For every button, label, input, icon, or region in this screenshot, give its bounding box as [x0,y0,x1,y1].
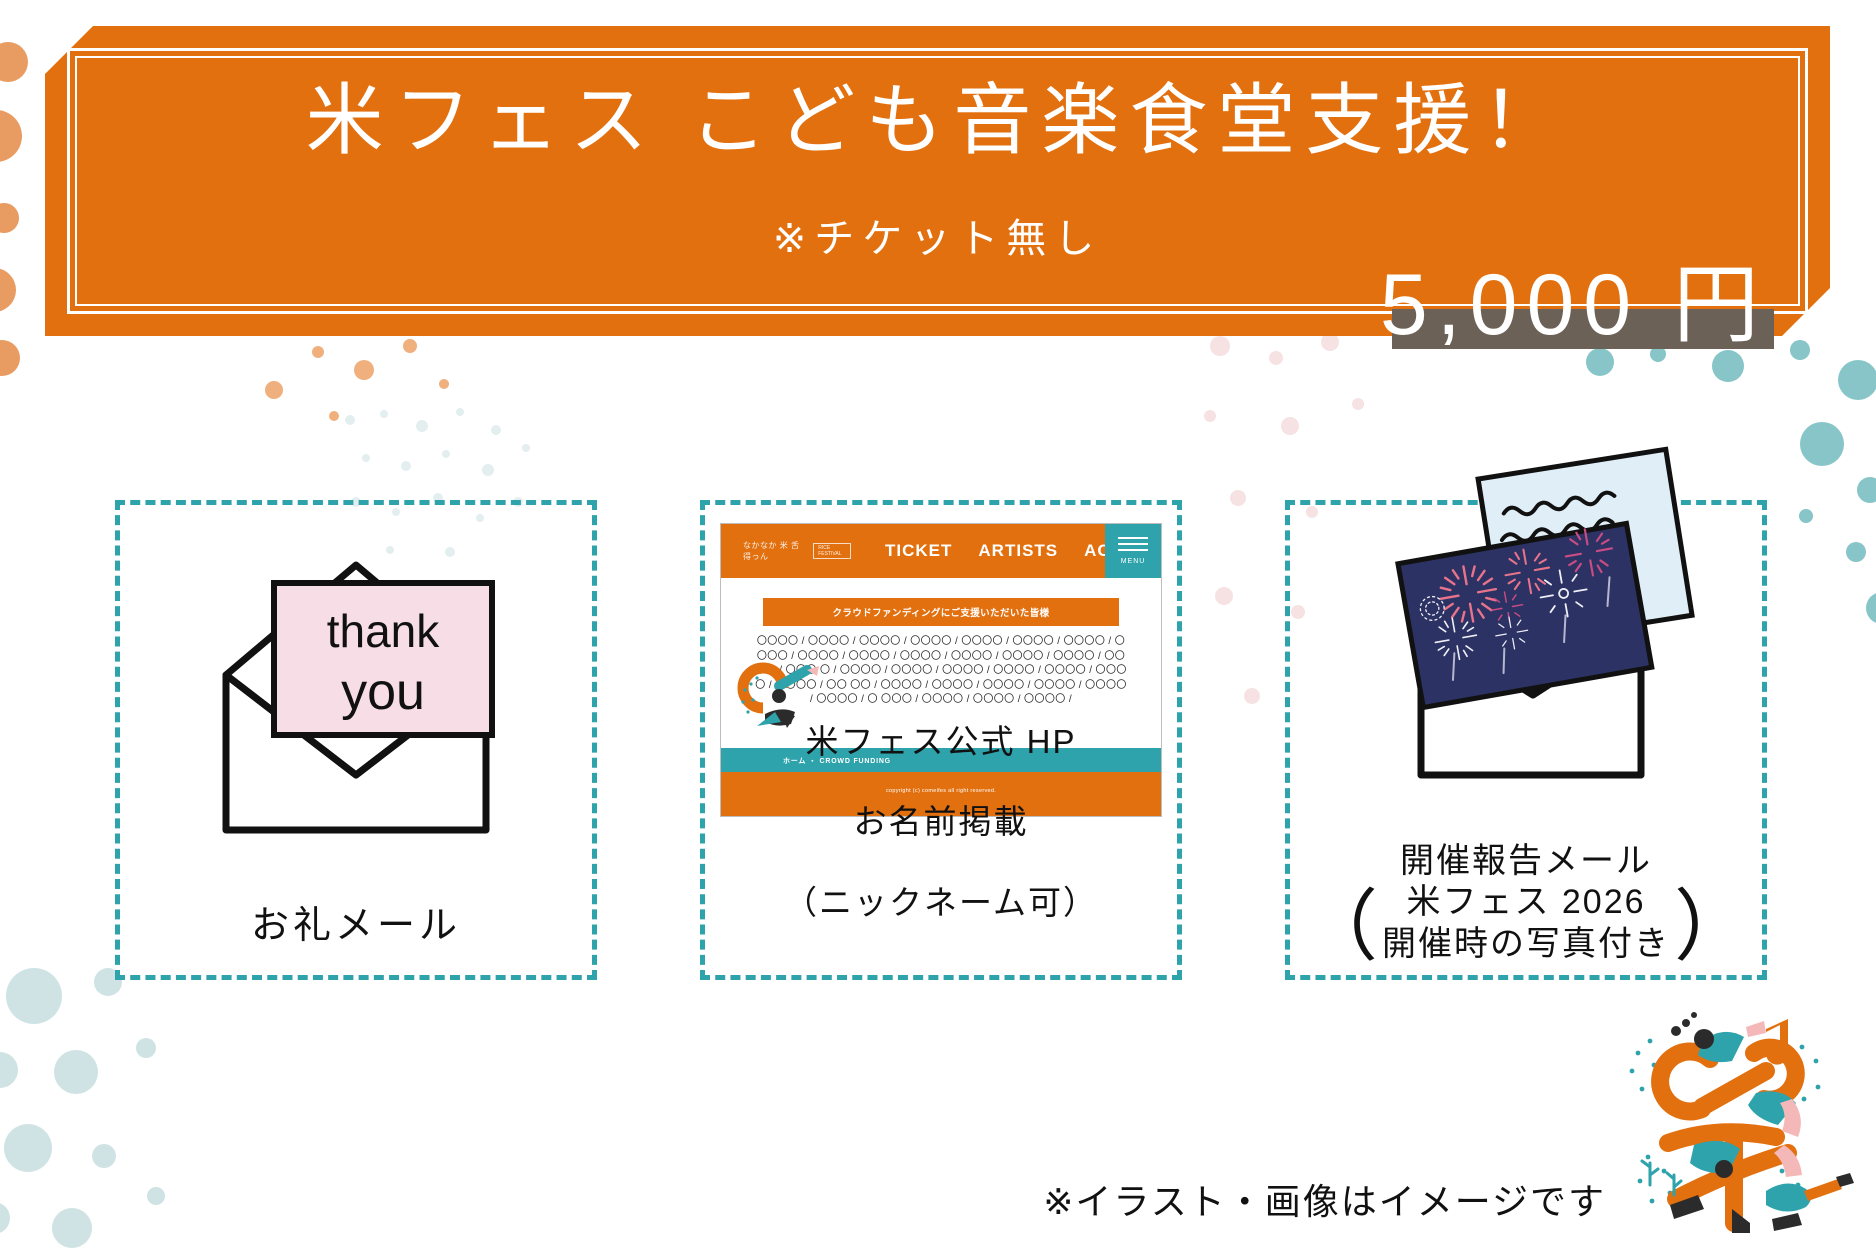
caption-line-1: 米フェス公式 HP [705,722,1177,762]
reward-caption-official-hp: 米フェス公式 HP お名前掲載 （ニックネーム可） [705,681,1177,963]
price-block: 5,000 円 [1380,251,1768,359]
banner-title: 米フェス こども音楽食堂支援！ [45,78,1830,164]
reward-caption-report-mail: （ 開催報告メール 米フェス 2026 開催時の写真付き ） [1290,841,1762,965]
caption-line-3: （ニックネーム可） [705,883,1177,923]
paren-close: ） [1674,891,1752,963]
caption-line-2: お名前掲載 [705,802,1177,842]
price-amount: 5,000 円 [1380,262,1768,348]
site-navbar: なかなか 米 舌 得っん RICE FESTIVAL TICKET ARTIST… [721,524,1161,578]
site-nav-artists[interactable]: ARTISTS [978,541,1058,561]
site-logo: なかなか 米 舌 得っん RICE FESTIVAL [743,540,851,562]
reward-box-report-mail: （ 開催報告メール 米フェス 2026 開催時の写真付き ） [1285,500,1767,980]
reward-box-official-hp: なかなか 米 舌 得っん RICE FESTIVAL TICKET ARTIST… [700,500,1182,980]
reward-caption-thanks-mail: お礼メール [120,903,592,949]
paren-open: （ [1300,891,1378,963]
site-logo-text: なかなか 米 舌 得っん [743,540,807,562]
header-banner: 米フェス こども音楽食堂支援！ ※チケット無し 5,000 円 [45,26,1830,336]
site-nav-ticket[interactable]: TICKET [885,541,952,561]
decorative-dots-midleft [260,330,460,440]
festival-logo-icon [1606,995,1856,1245]
menu-label: MENU [1121,558,1146,565]
hamburger-bar [1118,543,1148,545]
caption-line-1: 開催報告メール [1382,841,1670,882]
thankyou-envelope-illustration: thank you [120,525,592,855]
reward-box-row: thank you お礼メール なかなか 米 舌 得っん RICE FESTIV… [0,500,1876,980]
caption-line-3: 開催時の写真付き [1382,924,1670,965]
card-text-thank: thank [327,605,441,657]
hamburger-bar [1118,537,1148,539]
site-logo-tag: RICE FESTIVAL [813,543,851,559]
hamburger-bar [1118,549,1148,551]
site-section-title: クラウドファンディングにご支援いただいた皆様 [763,598,1119,626]
poster-canvas: 米フェス こども音楽食堂支援！ ※チケット無し 5,000 円 thank [0,0,1876,1251]
hamburger-menu-icon[interactable]: MENU [1105,524,1161,578]
report-envelope-illustration [1290,445,1762,785]
caption-line-2: 米フェス 2026 [1382,882,1670,923]
image-disclaimer-note: ※イラスト・画像はイメージです [1043,1173,1606,1225]
card-text-you: you [341,663,425,721]
decorative-dots-bottom-left [0,960,280,1251]
reward-box-thanks-mail: thank you お礼メール [115,500,597,980]
